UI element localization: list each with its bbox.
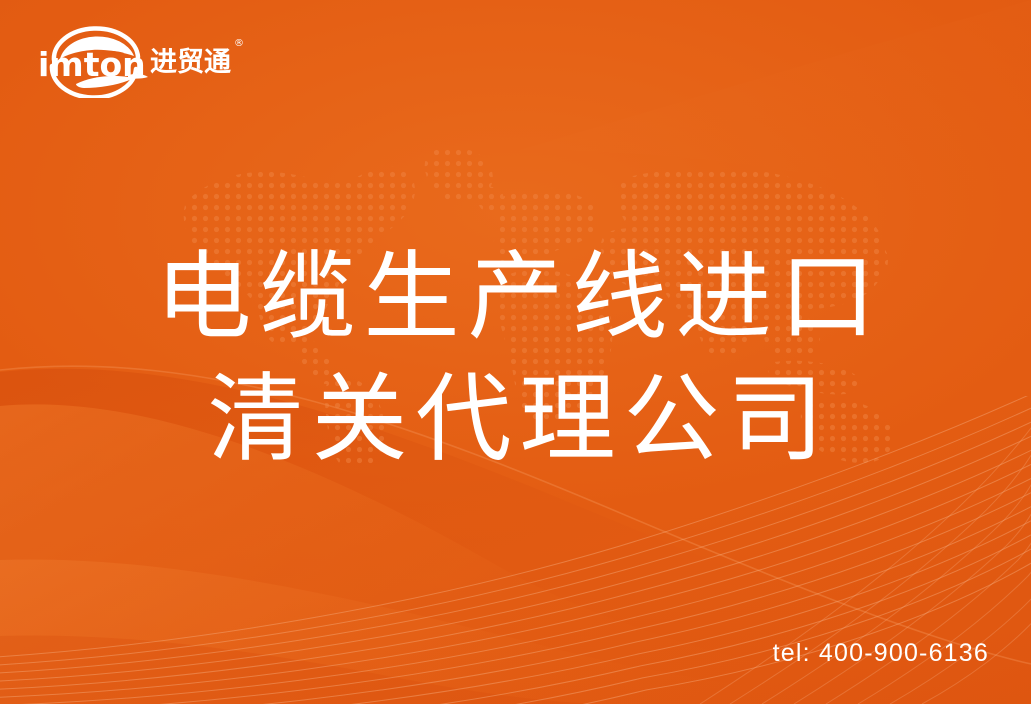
logo-chinese-text: 进贸通 <box>150 47 231 78</box>
promo-banner: imton 进贸通 ® 电缆生产线进口 清关代理公司 tel: 400-900-… <box>0 0 1031 704</box>
headline-block: 电缆生产线进口 清关代理公司 <box>0 236 1031 480</box>
contact-phone: tel: 400-900-6136 <box>773 639 989 668</box>
headline-line-1: 电缆生产线进口 <box>0 236 1031 358</box>
brand-logo[interactable]: imton 进贸通 ® <box>36 26 220 98</box>
logo-wordmark: imton <box>38 45 146 84</box>
globe-dotted-icon: imton <box>36 26 154 98</box>
logo-chinese-name: 进贸通 ® <box>150 49 231 76</box>
headline-line-2: 清关代理公司 <box>0 358 1031 480</box>
registered-trademark-icon: ® <box>234 39 244 49</box>
